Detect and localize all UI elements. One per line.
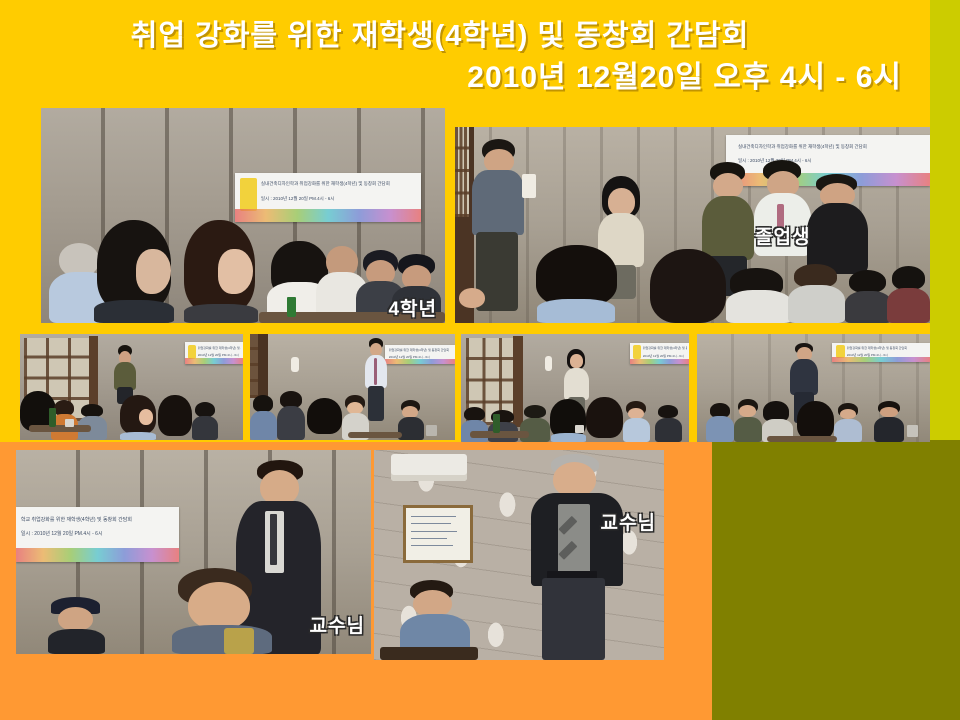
banner-color-strip (235, 209, 421, 222)
banner-line-1: 취업강화를 위한 재학생(4학년) 및 동창회 간담회 (389, 348, 452, 354)
annotation-professor-right: 교수님 (601, 508, 656, 535)
mascot-icon (240, 178, 257, 211)
page-title: 취업 강화를 위한 재학생(4학년) 및 동창회 간담회 (0, 12, 880, 54)
slide-canvas: 취업 강화를 위한 재학생(4학년) 및 동창회 간담회 2010년 12월20… (0, 0, 960, 720)
photo-mid-4[interactable]: 취업강화를 위한 재학생(4학년) 및 동창회 간담회 2010년 12월 20… (697, 334, 930, 442)
photo-mid-1[interactable]: 취업강화를 위한 재학생(4학년) 및 동창회 간담회 2010년 12월 20… (20, 334, 243, 440)
annotation-professor-left: 교수님 (310, 611, 365, 638)
title-banner: 취업 강화를 위한 재학생(4학년) 및 동창회 간담회 2010년 12월20… (0, 0, 930, 97)
photo-mid-2[interactable]: 취업강화를 위한 재학생(4학년) 및 동창회 간담회 2010년 12월 20… (250, 334, 455, 440)
annotation-graduate: 졸업생 (755, 222, 810, 249)
banner-line-1: 실내건축디자인학과 취업강화를 위한 재학생(4학년) 및 동창회 간담회 (738, 143, 922, 152)
wall-notice-frame (403, 505, 473, 564)
banner-line-1: 학교 취업강화를 위한 재학생(4학년) 및 동창회 간담회 (21, 516, 173, 526)
photo-mid-3[interactable]: 취업강화를 위한 재학생(4학년) 및 동창회 간담회 2010년 12월 20… (461, 334, 689, 442)
photo-top-right[interactable]: 실내건축디자인학과 취업강화를 위한 재학생(4학년) 및 동창회 간담회 일시… (455, 127, 930, 323)
page-subtitle: 2010년 12월20일 오후 4시 - 6시 (0, 52, 920, 96)
banner-line-1: 실내건축디자인학과 취업강화를 위한 재학생(4학년) 및 동창회 간담회 (261, 180, 413, 189)
banner-line-1: 취업강화를 위한 재학생(4학년) 및 동창회 간담회 (643, 346, 687, 352)
background-olive-right-strip (930, 440, 960, 720)
event-banner-in-photo: 실내건축디자인학과 취업강화를 위한 재학생(4학년) 및 동창회 간담회 일시… (235, 173, 421, 222)
photo-bottom-right[interactable]: 교수님 (374, 450, 664, 660)
photo-top-left[interactable]: 실내건축디자인학과 취업강화를 위한 재학생(4학년) 및 동창회 간담회 일시… (41, 108, 445, 323)
photo-bottom-left[interactable]: 학교 취업강화를 위한 재학생(4학년) 및 동창회 간담회 일시 : 2010… (16, 450, 371, 654)
event-banner-in-photo: 학교 취업강화를 위한 재학생(4학년) 및 동창회 간담회 일시 : 2010… (16, 507, 179, 562)
banner-line-2: 일시 : 2010년 12월 20일 PM.4시 - 6시 (21, 530, 173, 540)
banner-line-2: 일시 : 2010년 12월 20일 PM.4시 - 6시 (261, 195, 413, 204)
annotation-fourth-year: 4학년 (388, 294, 437, 321)
banner-line-1: 취업강화를 위한 재학생(4학년) 및 동창회 간담회 (847, 346, 926, 352)
background-olive (712, 442, 960, 720)
banner-line-1: 취업강화를 위한 재학생(4학년) 및 동창회 간담회 (198, 346, 241, 352)
